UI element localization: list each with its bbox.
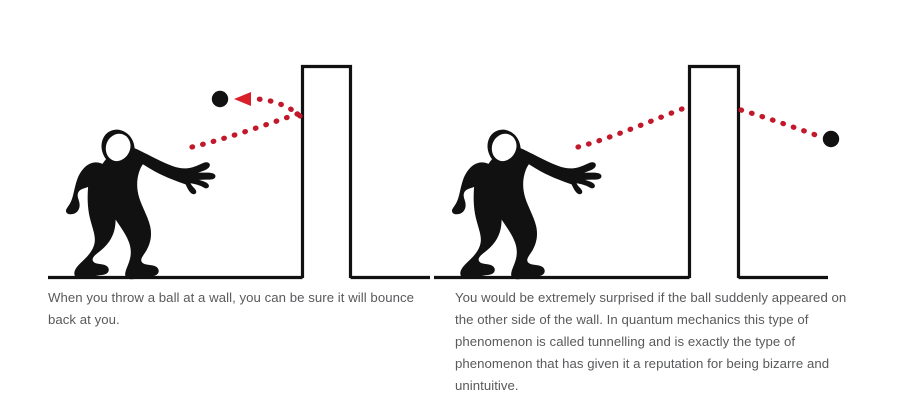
caption-quantum-tunnelling: You would be extremely surprised if the … bbox=[455, 287, 855, 397]
bounce-trajectory-return bbox=[250, 99, 300, 116]
tunnelling-trajectory-incoming bbox=[578, 107, 687, 147]
quantum-tunnelling-panel bbox=[434, 67, 839, 280]
boy-throwing-silhouette-left bbox=[66, 130, 215, 280]
tunnelling-trajectory-outgoing bbox=[741, 110, 824, 138]
bounce-trajectory-outgoing bbox=[192, 113, 300, 147]
diagram-page: When you throw a ball at a wall, you can… bbox=[0, 0, 900, 401]
ball-tunnelled-through bbox=[823, 131, 839, 147]
caption-classical-bounce: When you throw a ball at a wall, you can… bbox=[48, 287, 430, 331]
classical-bounce-panel bbox=[48, 67, 430, 280]
wall-barrier-left bbox=[303, 67, 351, 279]
wall-barrier-right bbox=[690, 67, 739, 279]
boy-throwing-silhouette-right bbox=[452, 130, 601, 280]
ball-bounced-back bbox=[212, 91, 228, 107]
rebound-arrowhead bbox=[234, 92, 251, 106]
